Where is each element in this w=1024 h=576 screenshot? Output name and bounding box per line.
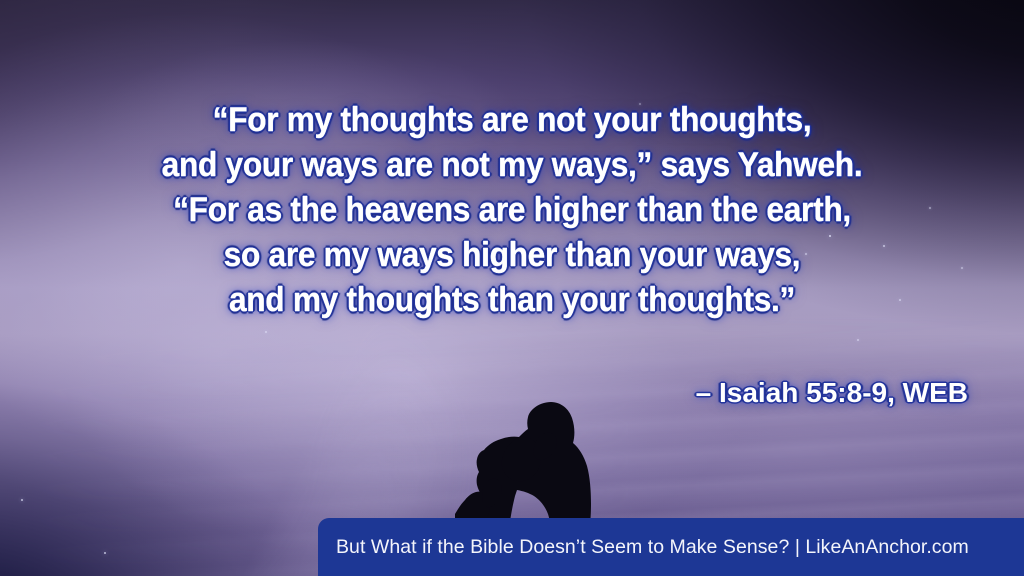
quote-line-4: so are my ways higher than your ways, — [36, 233, 988, 278]
star — [265, 331, 266, 332]
quote-line-1: “For my thoughts are not your thoughts, — [36, 98, 988, 143]
quote-line-5: and my thoughts than your thoughts.” — [36, 278, 988, 323]
star — [21, 499, 23, 501]
quote-block: “For my thoughts are not your thoughts, … — [0, 98, 1024, 323]
seated-person-silhouette — [455, 396, 615, 536]
banner-title-and-site: But What if the Bible Doesn’t Seem to Ma… — [336, 536, 969, 559]
quote-graphic-canvas: “For my thoughts are not your thoughts, … — [0, 0, 1024, 576]
star — [104, 552, 106, 554]
star — [857, 339, 859, 341]
quote-line-3: “For as the heavens are higher than the … — [36, 188, 988, 233]
quote-line-2: and your ways are not my ways,” says Yah… — [36, 143, 988, 188]
quote-attribution: – Isaiah 55:8-9, WEB — [0, 376, 1024, 410]
bottom-banner: But What if the Bible Doesn’t Seem to Ma… — [318, 518, 1024, 576]
